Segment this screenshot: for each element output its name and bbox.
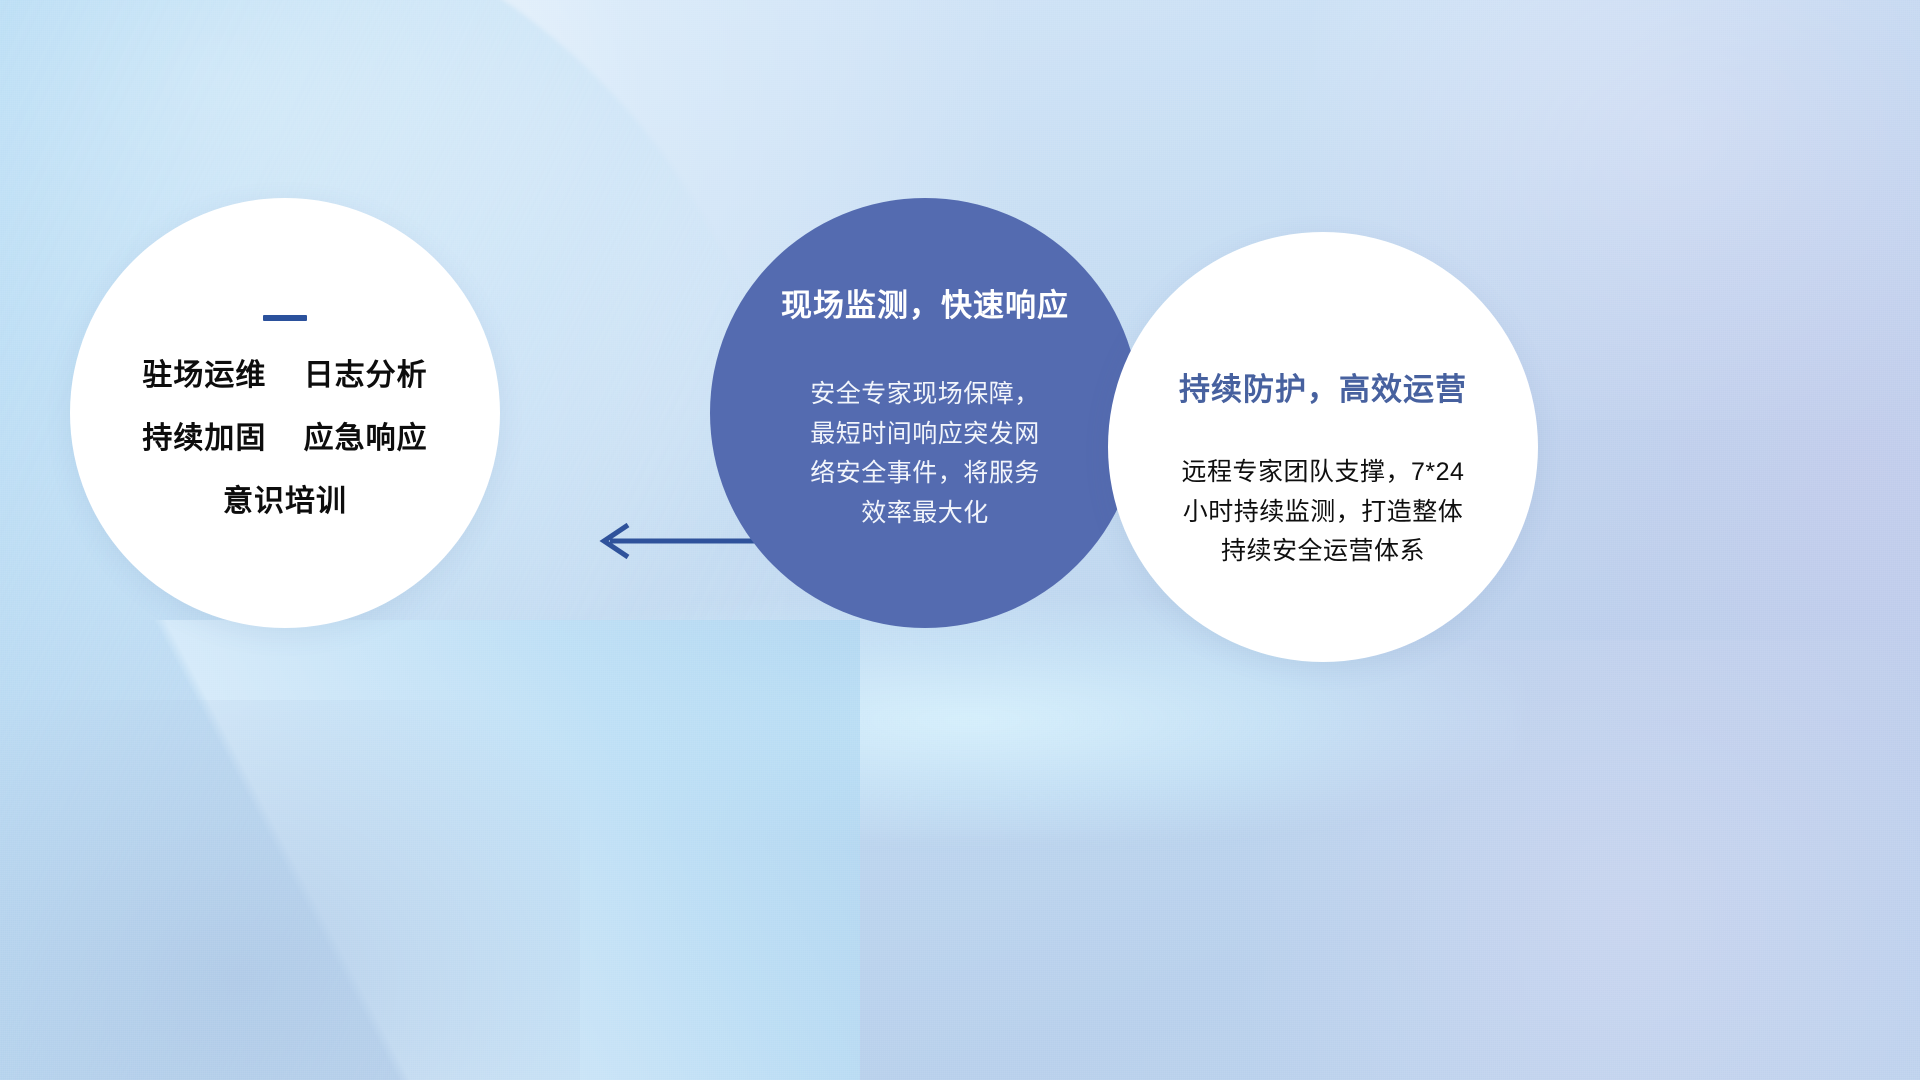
list-item: 意识培训	[70, 487, 500, 517]
middle-onsite-circle[interactable]: 现场监测，快速响应 安全专家现场保障， 最短时间响应突发网 络安全事件，将服务 …	[710, 198, 1140, 628]
body-line: 小时持续监测，打造整体	[1139, 493, 1507, 533]
body-line: 持续安全运营体系	[1139, 532, 1507, 572]
left-capability-circle[interactable]: 驻场运维 日志分析 持续加固 应急响应 意识培训	[70, 198, 500, 628]
middle-card-title: 现场监测，快速响应	[781, 290, 1069, 321]
middle-card-body: 安全专家现场保障， 最短时间响应突发网 络安全事件，将服务 效率最大化	[773, 375, 1077, 533]
left-capability-list: 驻场运维 日志分析 持续加固 应急响应 意识培训	[70, 361, 500, 517]
right-operations-circle[interactable]: 持续防护，高效运营 远程专家团队支撑，7*24 小时持续监测，打造整体 持续安全…	[1108, 232, 1538, 662]
right-card-title: 持续防护，高效运营	[1179, 374, 1467, 405]
body-line: 络安全事件，将服务	[773, 454, 1077, 494]
divider-dash	[263, 315, 307, 321]
list-item: 驻场运维 日志分析	[70, 361, 500, 391]
body-line: 远程专家团队支撑，7*24	[1139, 453, 1507, 493]
body-line: 安全专家现场保障，	[773, 375, 1077, 415]
right-card-body: 远程专家团队支撑，7*24 小时持续监测，打造整体 持续安全运营体系	[1139, 453, 1507, 572]
body-line: 效率最大化	[773, 494, 1077, 534]
list-item: 持续加固 应急响应	[70, 424, 500, 454]
body-line: 最短时间响应突发网	[773, 415, 1077, 455]
